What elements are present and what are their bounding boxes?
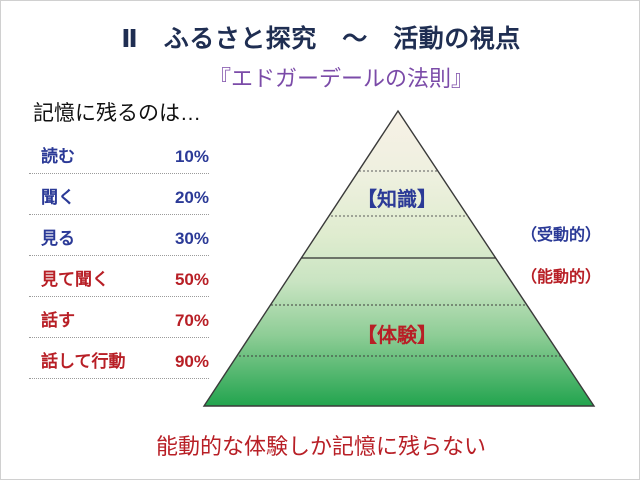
annotation-active: （能動的） [521,263,601,287]
slide-canvas: Ⅱ ふるさと探究 〜 活動の視点 『エドガーデールの法則』 記憶に残るのは… 読… [0,0,640,480]
footer-message: 能動的な体験しか記憶に残らない [1,429,640,461]
pyramid-diagram [199,105,599,413]
list-item-label: 見る [41,224,75,249]
pyramid-label-knowledge: 【知識】 [297,183,497,212]
list-item-label: 見て聞く [41,265,109,290]
page-subtitle: 『エドガーデールの法則』 [1,61,640,93]
annotation-passive: （受動的） [521,221,601,245]
list-item: 見て聞く 50% [29,256,209,297]
list-item-label: 聞く [41,183,75,208]
page-title: Ⅱ ふるさと探究 〜 活動の視点 [1,19,640,55]
lead-text: 記憶に残るのは… [33,97,201,127]
list-item-label: 話して行動 [41,347,126,372]
retention-list: 読む 10% 聞く 20% 見る 30% 見て聞く 50% 話す 70% 話して… [29,133,209,379]
list-item-label: 読む [41,142,75,167]
list-item: 読む 10% [29,133,209,174]
list-item: 話す 70% [29,297,209,338]
pyramid-shape [199,105,599,413]
list-item: 聞く 20% [29,174,209,215]
pyramid-label-experience: 【体験】 [297,319,497,348]
list-item: 話して行動 90% [29,338,209,379]
list-item-label: 話す [41,306,75,331]
list-item: 見る 30% [29,215,209,256]
